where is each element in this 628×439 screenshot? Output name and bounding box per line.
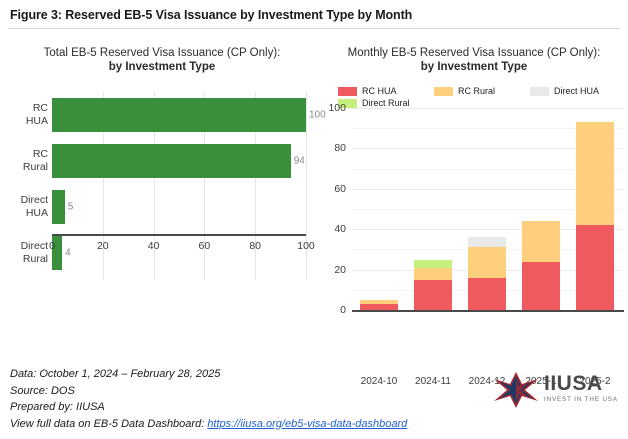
legend-label: Direct HUA [554,86,599,96]
left-x-axis-ticks: 020406080100 [52,236,306,258]
left-bar-track: 5 [52,184,306,230]
legend-swatch-icon [338,87,357,96]
left-chart-subtitle: by Investment Type [4,60,320,74]
left-category-label-line: Rural [23,253,48,266]
left-x-tick-label: 60 [199,240,211,252]
left-bar-row: DirectHUA5 [4,184,320,230]
left-category-label-line: RC [33,148,48,161]
stacked-bar-segment[interactable] [414,280,452,310]
right-x-tick-label: 2024-11 [415,376,451,387]
legend-label: RC Rural [458,86,495,96]
left-category-label-line: Rural [23,161,48,174]
right-y-tick-label: 60 [334,183,352,195]
legend-item[interactable]: Direct Rural [338,98,434,108]
left-bar-value: 94 [291,156,305,167]
legend-label: RC HUA [362,86,397,96]
stacked-bar-segment[interactable] [522,262,560,310]
left-category-label: DirectRural [4,230,48,276]
left-plot-area: RCHUA100RCRural94DirectHUA5DirectRural4 [4,92,320,322]
left-bar-row: RCRural94 [4,138,320,184]
legend-item[interactable]: RC Rural [434,86,530,96]
left-category-label-line: HUA [26,207,48,220]
left-category-label: RCRural [4,138,48,184]
right-y-tick-label: 100 [328,102,352,114]
left-x-tick-label: 40 [148,240,160,252]
stacked-bar-segment[interactable] [414,268,452,280]
iiusa-logo: IIUSA INVEST IN THE USA [492,368,618,414]
right-y-tick-label: 80 [334,142,352,154]
chart-panel-monthly: Monthly EB-5 Reserved Visa Issuance (CP … [322,46,626,336]
chart-legend: RC HUARC RuralDirect HUADirect Rural [338,86,626,108]
stacked-bar[interactable] [468,108,506,310]
left-bar-track: 100 [52,92,306,138]
legend-label: Direct Rural [362,98,410,108]
logo-name: IIUSA [544,373,618,394]
left-x-tick-label: 20 [97,240,109,252]
legend-item[interactable]: Direct HUA [530,86,626,96]
right-y-tick-label: 40 [334,223,352,235]
footer-prepared-by: Prepared by: IIUSA [10,399,407,416]
left-category-label-line: Direct [21,240,48,253]
footer-notes: Data: October 1, 2024 – February 28, 202… [10,366,407,432]
left-x-tick-label: 80 [249,240,261,252]
left-bar[interactable] [52,98,306,132]
stacked-bar-segment[interactable] [414,260,452,268]
left-category-label-line: RC [33,102,48,115]
legend-item[interactable]: RC HUA [338,86,434,96]
star-logo-icon [492,370,540,410]
left-category-label-line: Direct [21,194,48,207]
left-bar-value: 5 [65,202,74,213]
stacked-bar-segment[interactable] [468,247,506,277]
stacked-bar-segment[interactable] [360,300,398,304]
left-chart-title: Total EB-5 Reserved Visa Issuance (CP On… [4,46,320,60]
footer-source: Source: DOS [10,383,407,400]
stacked-bar[interactable] [360,108,398,310]
legend-swatch-icon [434,87,453,96]
left-bar[interactable] [52,144,291,178]
stacked-bar-segment[interactable] [468,278,506,310]
right-y-tick-label: 0 [340,304,352,316]
stacked-bar-segment[interactable] [576,225,614,310]
stacked-bar-segment[interactable] [522,221,560,261]
left-bar-track: 94 [52,138,306,184]
logo-tagline: INVEST IN THE USA [544,396,618,403]
title-divider [8,28,620,29]
stacked-bar[interactable] [576,108,614,310]
stacked-bar[interactable] [522,108,560,310]
left-bar[interactable] [52,190,65,224]
left-category-label: RCHUA [4,92,48,138]
right-x-axis-line [352,310,624,312]
right-chart-title: Monthly EB-5 Reserved Visa Issuance (CP … [322,46,626,60]
right-chart-subtitle: by Investment Type [322,60,626,74]
page-title: Figure 3: Reserved EB-5 Visa Issuance by… [10,8,412,22]
logo-text-block: IIUSA INVEST IN THE USA [544,373,618,403]
footer-data-range: Data: October 1, 2024 – February 28, 202… [10,366,407,383]
footer-dashboard-line: View full data on EB-5 Data Dashboard: h… [10,416,407,433]
left-bar-row: RCHUA100 [4,92,320,138]
stacked-bar[interactable] [414,108,452,310]
right-y-tick-label: 20 [334,264,352,276]
left-category-label-line: HUA [26,115,48,128]
legend-swatch-icon [530,87,549,96]
left-x-tick-label: 100 [297,240,315,252]
right-plot-area: 0204060801002024-102024-112024-122025-12… [352,108,622,310]
chart-panel-total: Total EB-5 Reserved Visa Issuance (CP On… [4,46,320,336]
stacked-bar-segment[interactable] [468,237,506,247]
left-x-tick-label: 0 [49,240,55,252]
left-category-label: DirectHUA [4,184,48,230]
footer-dashboard-prefix: View full data on EB-5 Data Dashboard: [10,418,207,430]
dashboard-link[interactable]: https://iiusa.org/eb5-visa-data-dashboar… [207,418,407,430]
stacked-bar-segment[interactable] [576,122,614,225]
